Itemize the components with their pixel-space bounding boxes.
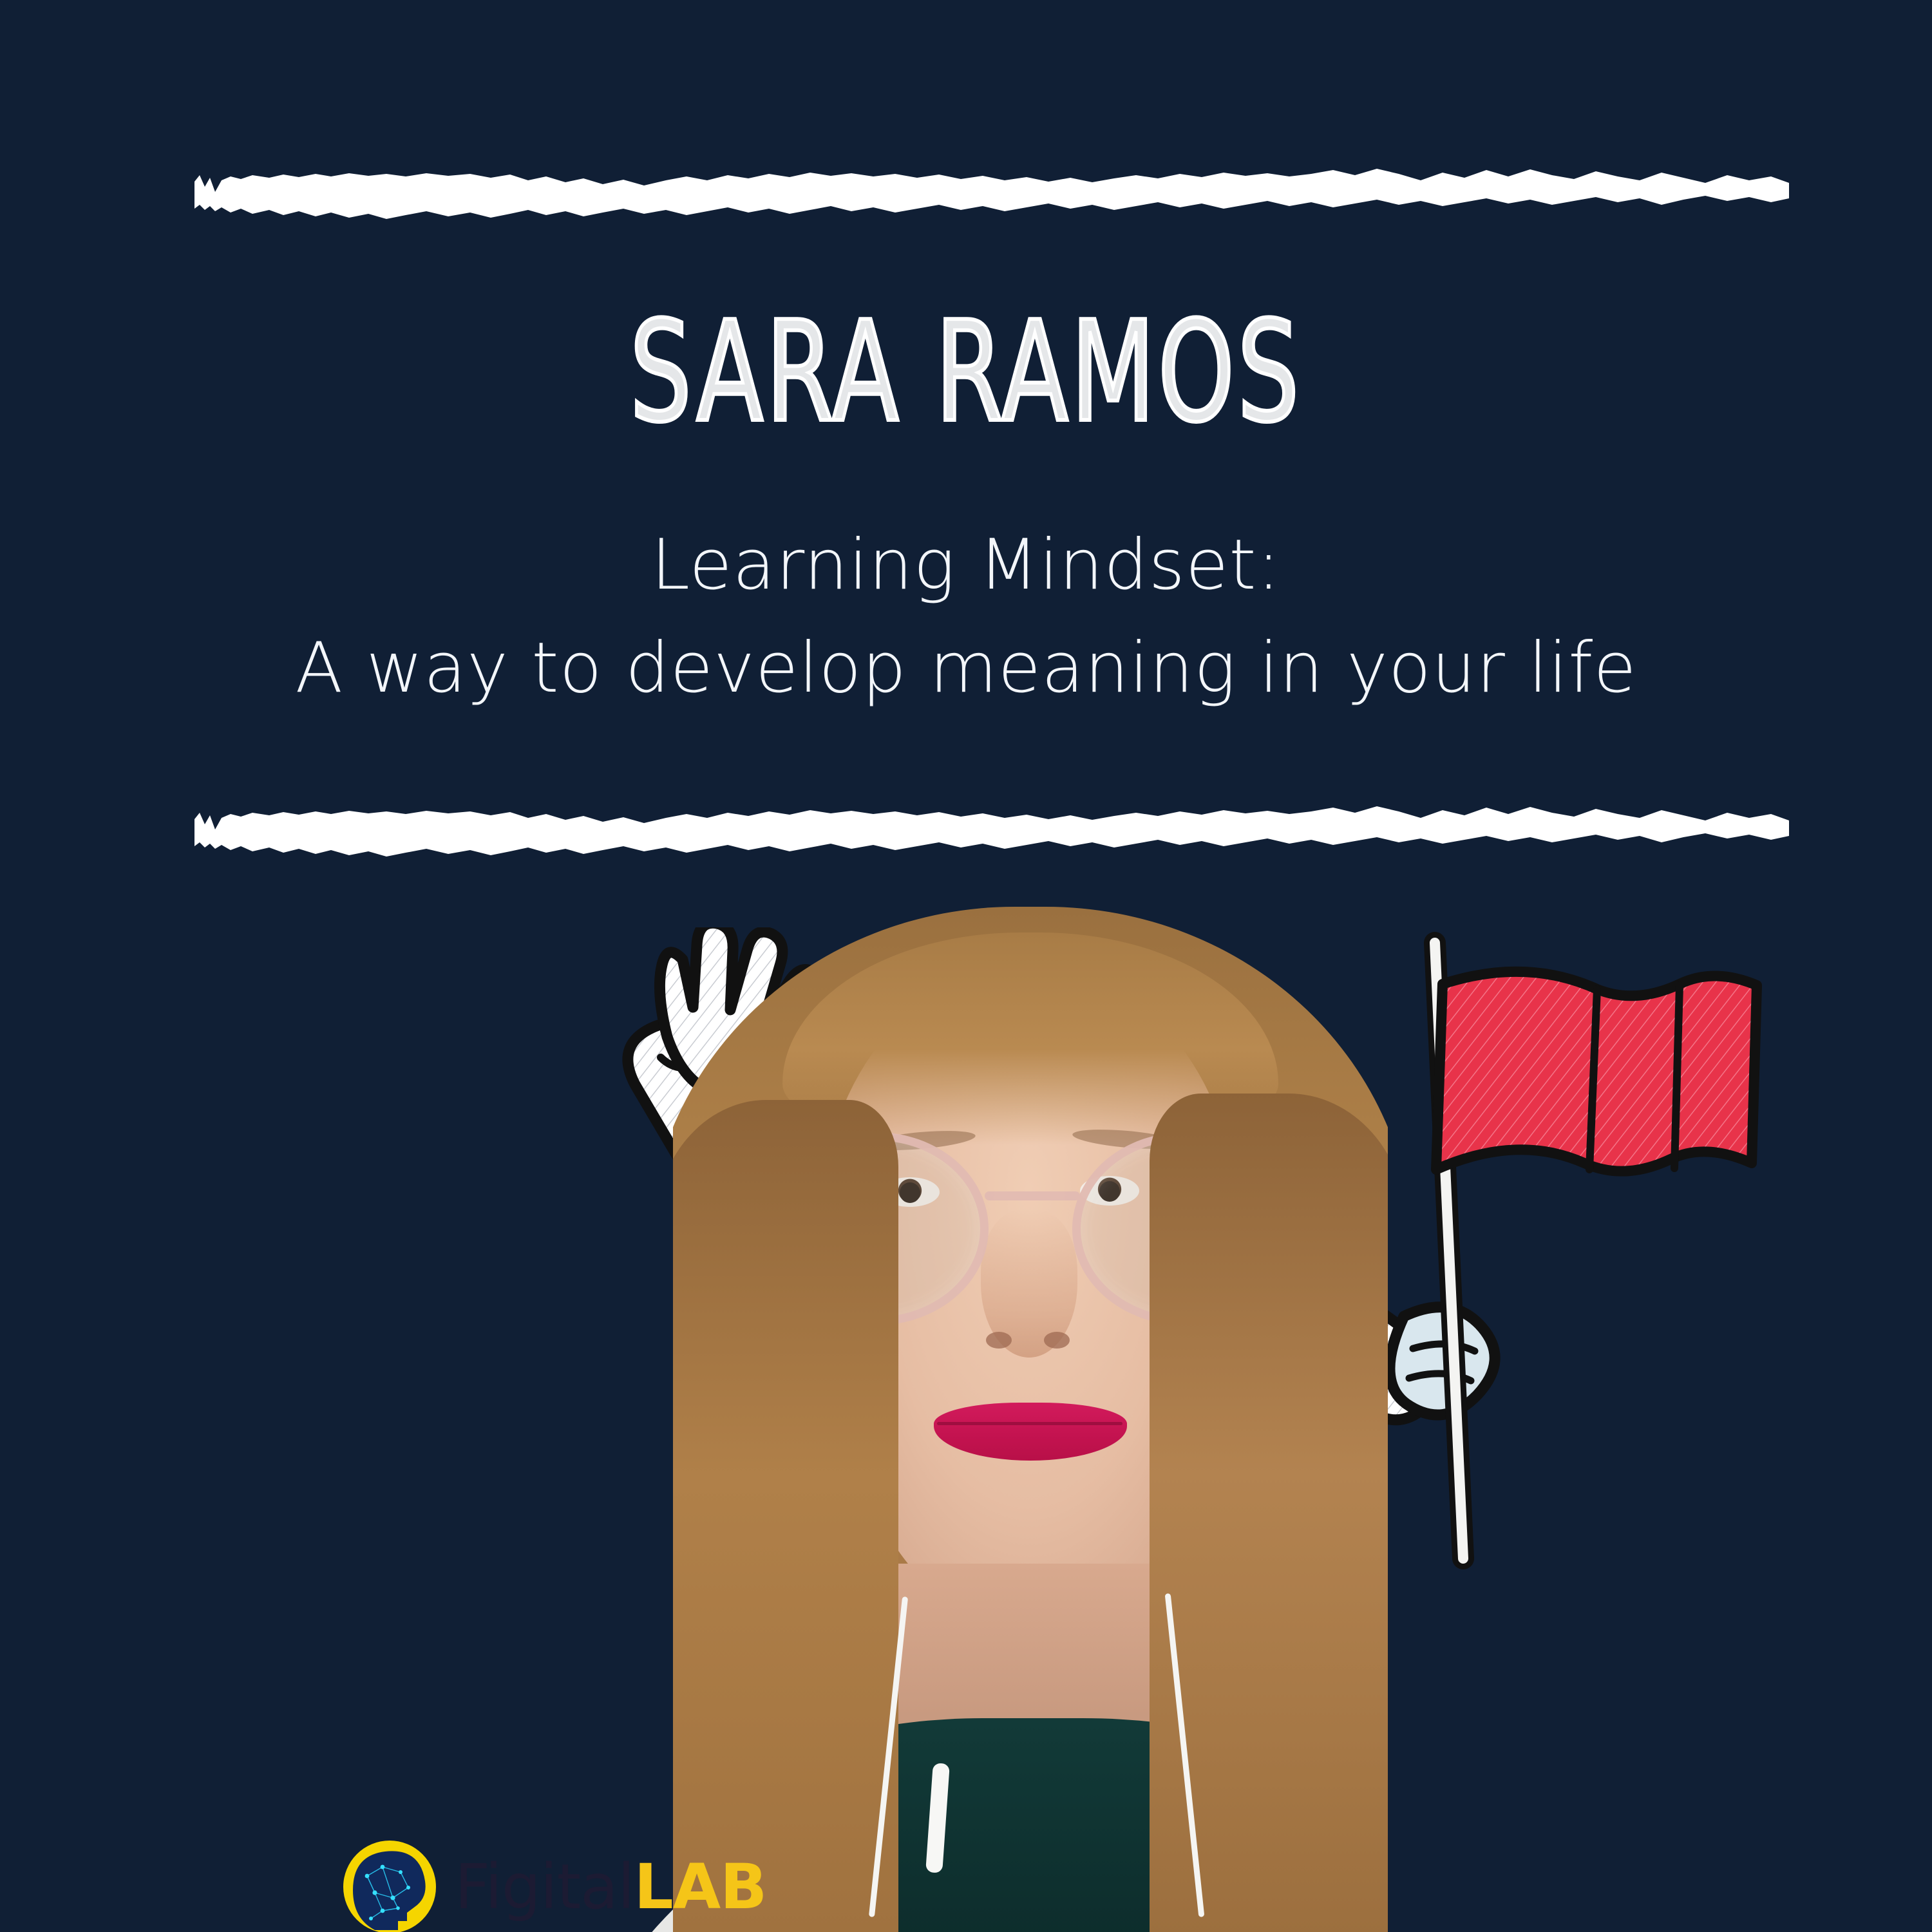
nostril-right xyxy=(1044,1332,1070,1349)
talk-title-line-1: Learning Mindset: xyxy=(0,525,1932,605)
logo-word-lab: LAB xyxy=(634,1851,767,1923)
red-flag-sketch xyxy=(1327,927,1777,1636)
logo-word-figital: Figital xyxy=(455,1851,634,1923)
presentation-slide: SARA RAMOS Learning Mindset: A way to de… xyxy=(0,0,1932,1932)
logo-wordmark: FigitalLAB xyxy=(455,1851,766,1923)
hair-strand-left xyxy=(673,1100,898,1932)
talk-title-line-2: A way to develop meaning in your life xyxy=(0,628,1932,708)
speaker-name-heading: SARA RAMOS xyxy=(213,303,1719,441)
glasses-bridge xyxy=(985,1191,1080,1200)
brush-stroke-divider-bottom xyxy=(193,799,1790,857)
figital-head-network-icon xyxy=(341,1839,438,1932)
nostril-left xyxy=(986,1332,1012,1349)
figital-lab-logo[interactable]: FigitalLAB xyxy=(341,1839,766,1932)
illustration-scene xyxy=(0,889,1932,1932)
lip-line xyxy=(937,1422,1122,1425)
brush-stroke-divider-top xyxy=(193,161,1790,219)
speaker-name-text: SARA RAMOS xyxy=(630,303,1302,441)
hair-strand-right xyxy=(1150,1094,1388,1932)
speaker-portrait xyxy=(673,907,1388,1932)
